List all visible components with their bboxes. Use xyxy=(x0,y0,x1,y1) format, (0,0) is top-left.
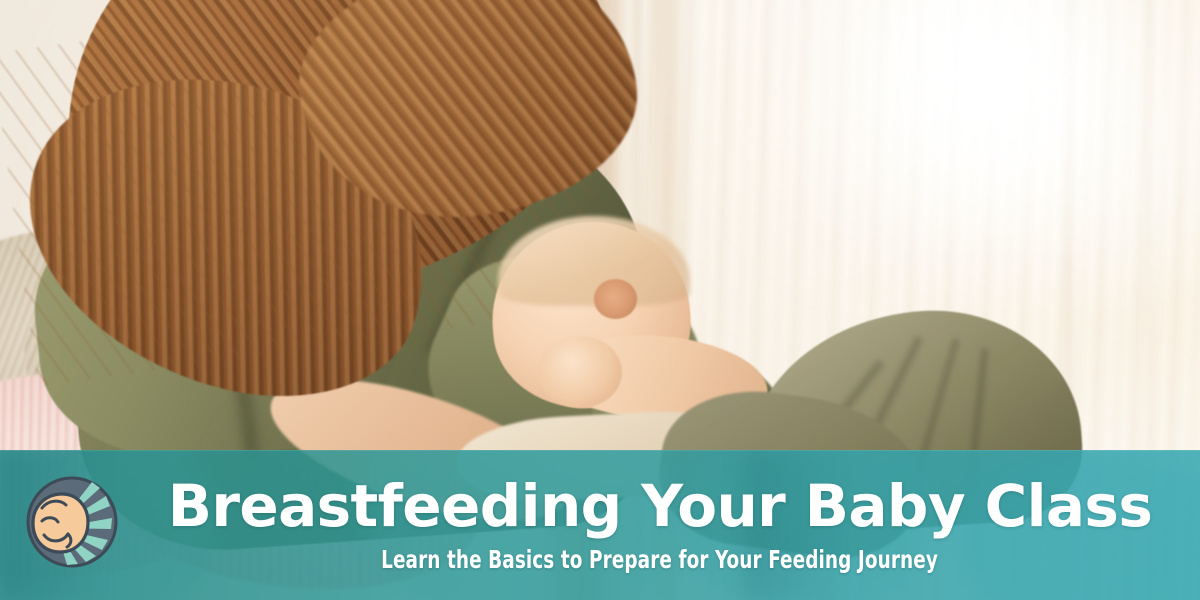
page-title: Breastfeeding Your Baby Class xyxy=(168,477,1153,536)
baby-sunburst-logo xyxy=(22,472,122,572)
promo-banner-card: Breastfeeding Your Baby Class Learn the … xyxy=(0,0,1200,600)
banner-content: Breastfeeding Your Baby Class Learn the … xyxy=(0,450,1200,600)
page-subtitle: Learn the Basics to Prepare for Your Fee… xyxy=(382,546,939,574)
title-banner: Breastfeeding Your Baby Class Learn the … xyxy=(0,450,1200,600)
banner-text-block: Breastfeeding Your Baby Class Learn the … xyxy=(140,450,1180,600)
